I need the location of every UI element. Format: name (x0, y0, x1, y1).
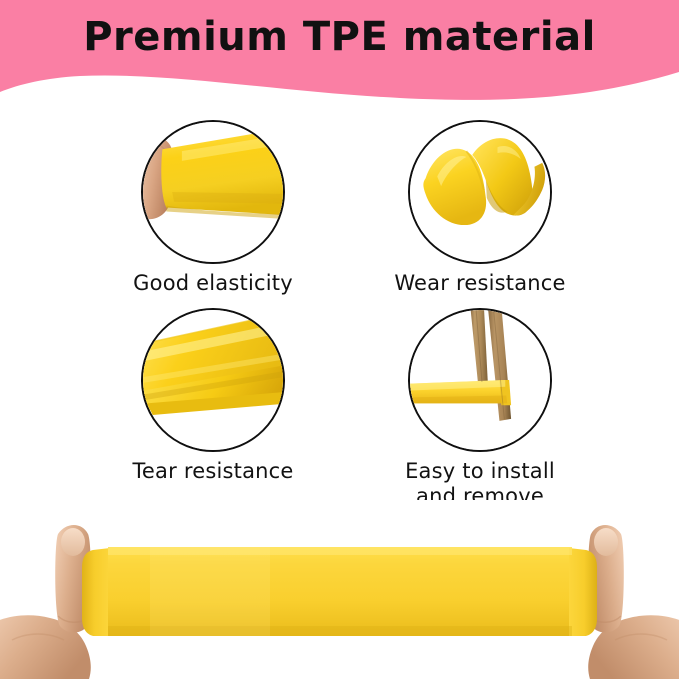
header-banner: Premium TPE material (0, 0, 679, 112)
page-title: Premium TPE material (0, 14, 679, 60)
band-on-chair-legs-photo (408, 308, 552, 452)
band-on-chair-legs-illustration (410, 310, 550, 450)
hero-product-photo (0, 500, 679, 679)
resistance-band (82, 547, 597, 636)
hand-stretching-band-photo (141, 120, 285, 264)
two-hands-stretching-yellow-band-illustration (0, 500, 679, 679)
feature-caption: Wear resistance (345, 271, 615, 296)
folded-band-photo (408, 120, 552, 264)
stretched-band-strands-illustration (143, 310, 283, 450)
band-right-end (569, 548, 597, 636)
feature-item-wear-resistance: Wear resistance (345, 120, 615, 296)
feature-caption-line-1: Easy to install (405, 459, 555, 483)
feature-item-easy-to-install: Easy to install and remove (345, 308, 615, 509)
feature-caption: Good elasticity (78, 271, 348, 296)
feature-grid: Good elasticity (0, 118, 679, 518)
left-fingernail (61, 528, 85, 556)
feature-item-tear-resistance: Tear resistance (78, 308, 348, 484)
folded-band-illustration (410, 122, 550, 262)
feature-item-good-elasticity: Good elasticity (78, 120, 348, 296)
stretched-band-strands-photo (141, 308, 285, 452)
right-fingernail (594, 528, 618, 556)
band-left-end (82, 548, 110, 636)
feature-caption: Tear resistance (78, 459, 348, 484)
hand-stretching-band-illustration (143, 122, 283, 262)
